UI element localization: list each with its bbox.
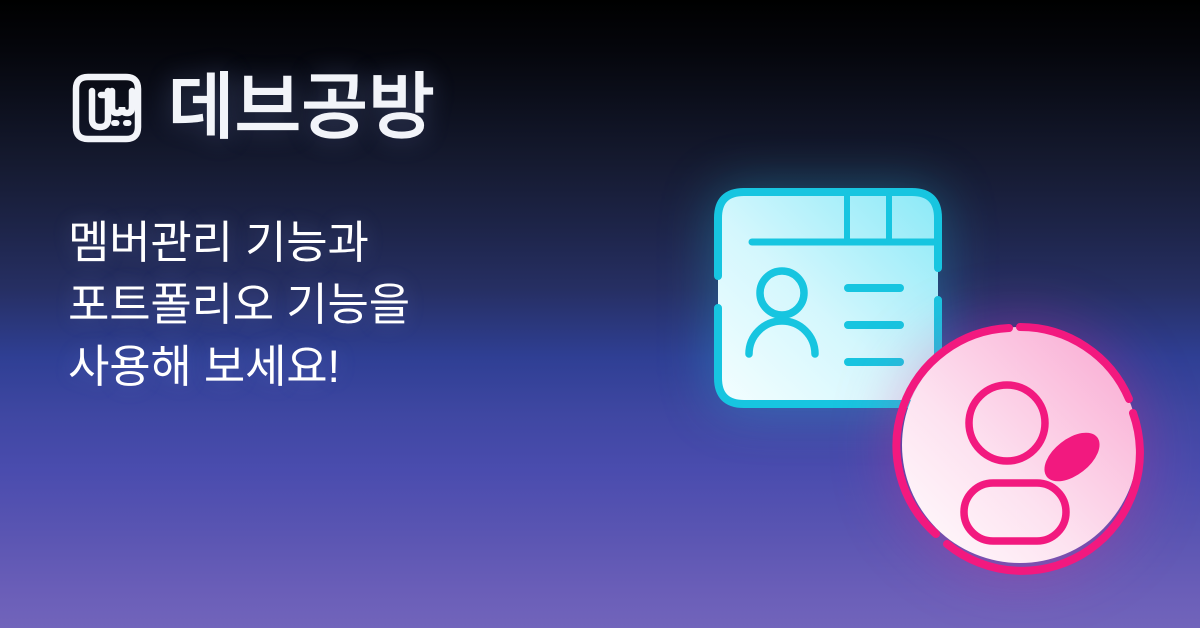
- debgongbang-logo-icon: [68, 69, 146, 147]
- headline-line-3: 사용해 보세요!: [68, 336, 668, 398]
- illustration-group: [690, 170, 1160, 580]
- brand-lockup: 데브공방: [68, 62, 668, 154]
- banner-content-column: 데브공방 멤버관리 기능과 포트폴리오 기능을 사용해 보세요!: [68, 62, 668, 398]
- profile-avatar-icon: [890, 315, 1150, 575]
- brand-name: 데브공방: [168, 72, 435, 144]
- promo-banner: 데브공방 멤버관리 기능과 포트폴리오 기능을 사용해 보세요!: [0, 0, 1200, 628]
- headline-line-2: 포트폴리오 기능을: [68, 274, 668, 336]
- headline-line-1: 멤버관리 기능과: [68, 212, 668, 274]
- headline-block: 멤버관리 기능과 포트폴리오 기능을 사용해 보세요!: [68, 212, 668, 398]
